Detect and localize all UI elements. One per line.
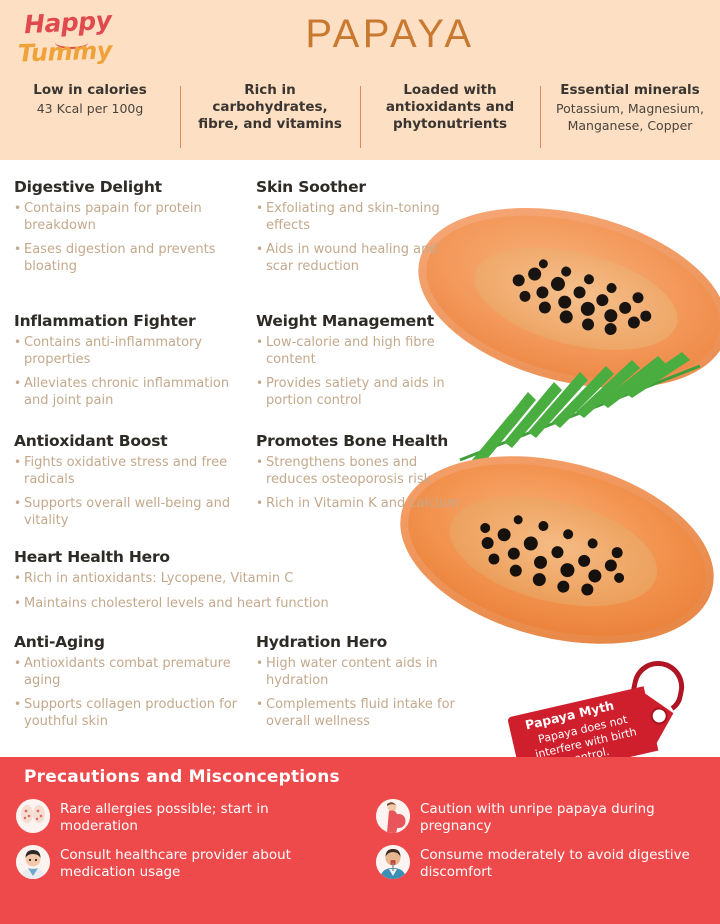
precautions-column-left: Rare allergies possible; start in modera… [0, 799, 360, 891]
benefit-point: Rich in Vitamin K and calcium [256, 496, 461, 513]
fact-item-carbohydrates: Rich in carbohydrates, fibre, and vitami… [180, 82, 360, 154]
benefit-section-promotes-bone-health: Promotes Bone Health Strengthens bones a… [256, 432, 461, 521]
fact-subtitle: 43 Kcal per 100g [10, 100, 170, 117]
precaution-item: Caution with unripe papaya during pregna… [376, 799, 710, 835]
precaution-item: Rare allergies possible; start in modera… [16, 799, 350, 835]
precautions-banner: Precautions and Misconceptions [0, 757, 720, 924]
benefit-point: Provides satiety and aids in portion con… [256, 376, 461, 409]
benefit-point: Strengthens bones and reduces osteoporos… [256, 455, 461, 488]
benefit-point: Rich in antioxidants: Lycopene, Vitamin … [14, 571, 414, 588]
person-eating-icon [376, 845, 410, 879]
logo-tummy-text: Tummy [18, 36, 113, 67]
precautions-grid: Rare allergies possible; start in modera… [0, 799, 720, 891]
benefit-section-digestive-delight: Digestive Delight Contains papain for pr… [14, 178, 244, 283]
fact-subtitle: Potassium, Magnesium, Manganese, Copper [550, 100, 710, 134]
header: Happy Tummy PAPAYA Low in calories 43 Kc… [0, 0, 720, 160]
precautions-title: Precautions and Misconceptions [24, 767, 340, 787]
benefit-point: Alleviates chronic inflammation and join… [14, 376, 252, 409]
benefit-point: Contains papain for protein breakdown [14, 201, 244, 234]
precaution-text: Caution with unripe papaya during pregna… [420, 799, 710, 835]
benefit-list: Exfoliating and skin-toning effects Aids… [256, 201, 461, 275]
benefit-list: Strengthens bones and reduces osteoporos… [256, 455, 461, 513]
precaution-text: Consume moderately to avoid digestive di… [420, 845, 710, 881]
infographic-page: Happy Tummy PAPAYA Low in calories 43 Kc… [0, 0, 720, 924]
benefit-title: Digestive Delight [14, 178, 244, 196]
benefit-list: Contains anti-inflammatory properties Al… [14, 335, 252, 409]
benefit-section-anti-aging: Anti-Aging Antioxidants combat premature… [14, 633, 244, 738]
benefit-point: Aids in wound healing and scar reduction [256, 242, 461, 275]
fact-item-calories: Low in calories 43 Kcal per 100g [0, 82, 180, 154]
benefit-point: Exfoliating and skin-toning effects [256, 201, 461, 234]
benefit-title: Inflammation Fighter [14, 312, 252, 330]
benefit-section-inflammation-fighter: Inflammation Fighter Contains anti-infla… [14, 312, 252, 417]
brand-logo: Happy Tummy [14, 6, 124, 70]
benefit-title: Weight Management [256, 312, 461, 330]
benefits-container: Digestive Delight Contains papain for pr… [0, 160, 720, 755]
logo-happy-text: Happy [23, 6, 112, 40]
benefit-point: Antioxidants combat premature aging [14, 656, 244, 689]
benefit-point: Contains anti-inflammatory properties [14, 335, 252, 368]
fact-title: Loaded with antioxidants and phytonutrie… [370, 82, 530, 133]
doctor-icon [16, 845, 50, 879]
benefit-point: Maintains cholesterol levels and heart f… [14, 596, 414, 613]
allergy-rash-icon [16, 799, 50, 833]
benefit-section-antioxidant-boost: Antioxidant Boost Fights oxidative stres… [14, 432, 239, 537]
benefit-list: Rich in antioxidants: Lycopene, Vitamin … [14, 571, 414, 612]
benefit-point: Fights oxidative stress and free radical… [14, 455, 239, 488]
benefit-section-skin-soother: Skin Soother Exfoliating and skin-toning… [256, 178, 461, 283]
benefit-list: Low-calorie and high fibre content Provi… [256, 335, 461, 409]
benefit-section-weight-management: Weight Management Low-calorie and high f… [256, 312, 461, 417]
fact-item-minerals: Essential minerals Potassium, Magnesium,… [540, 82, 720, 154]
benefit-list: High water content aids in hydration Com… [256, 656, 468, 730]
benefit-point: Complements fluid intake for overall wel… [256, 697, 468, 730]
pregnant-woman-icon [376, 799, 410, 833]
precaution-item: Consult healthcare provider about medica… [16, 845, 350, 881]
fact-title: Rich in carbohydrates, fibre, and vitami… [190, 82, 350, 133]
benefit-list: Antioxidants combat premature aging Supp… [14, 656, 244, 730]
nutrition-facts-row: Low in calories 43 Kcal per 100g Rich in… [0, 82, 720, 154]
fact-item-antioxidants: Loaded with antioxidants and phytonutrie… [360, 82, 540, 154]
precaution-text: Consult healthcare provider about medica… [60, 845, 350, 881]
benefit-point: Supports overall well-being and vitality [14, 496, 239, 529]
benefit-point: Supports collagen production for youthfu… [14, 697, 244, 730]
precaution-text: Rare allergies possible; start in modera… [60, 799, 350, 835]
benefit-list: Fights oxidative stress and free radical… [14, 455, 239, 529]
precaution-item: Consume moderately to avoid digestive di… [376, 845, 710, 881]
benefit-title: Promotes Bone Health [256, 432, 461, 450]
benefit-title: Antioxidant Boost [14, 432, 239, 450]
fact-title: Essential minerals [550, 82, 710, 99]
benefit-point: High water content aids in hydration [256, 656, 468, 689]
benefit-title: Skin Soother [256, 178, 461, 196]
benefit-title: Anti-Aging [14, 633, 244, 651]
benefit-title: Hydration Hero [256, 633, 468, 651]
page-title: PAPAYA [180, 12, 600, 57]
benefit-list: Contains papain for protein breakdown Ea… [14, 201, 244, 275]
benefit-title: Heart Health Hero [14, 548, 414, 566]
benefit-point: Eases digestion and prevents bloating [14, 242, 244, 275]
benefit-section-hydration-hero: Hydration Hero High water content aids i… [256, 633, 468, 738]
benefit-section-heart-health-hero: Heart Health Hero Rich in antioxidants: … [14, 548, 414, 620]
benefit-point: Low-calorie and high fibre content [256, 335, 461, 368]
precautions-column-right: Caution with unripe papaya during pregna… [360, 799, 720, 891]
fact-title: Low in calories [10, 82, 170, 99]
